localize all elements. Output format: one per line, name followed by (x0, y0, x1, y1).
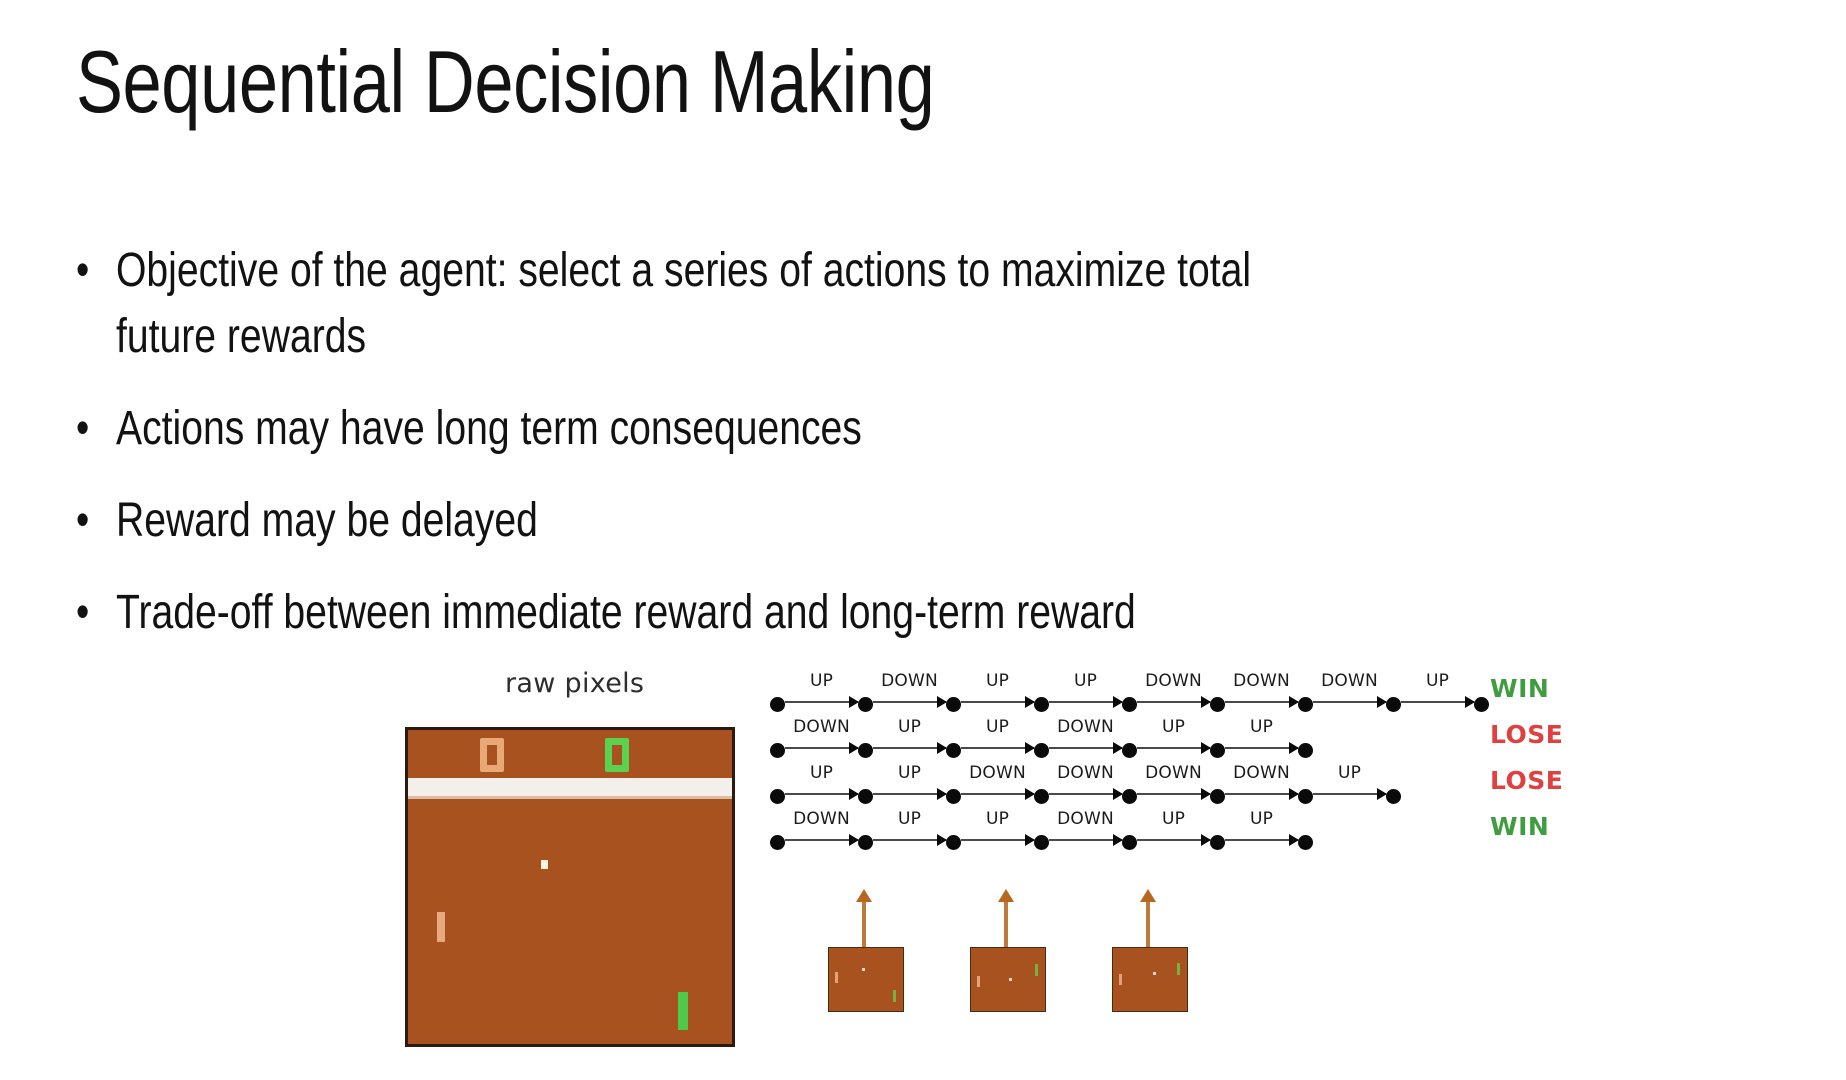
list-item: • Reward may be delayed (76, 488, 1836, 554)
bullet-text: Reward may be delayed (116, 488, 1518, 554)
ball (1153, 972, 1156, 975)
up-arrow-icon (1146, 900, 1150, 948)
bullet-text: Trade-off between immediate reward and l… (116, 580, 1518, 646)
bullet-marker: • (76, 238, 109, 300)
bullet-marker: • (76, 580, 109, 642)
left-paddle (977, 976, 980, 987)
pong-thumbnail-frame (1112, 947, 1188, 1012)
ball (1009, 978, 1012, 981)
up-arrow-icon (862, 900, 866, 948)
up-arrow-icon (1004, 900, 1008, 948)
right-paddle (893, 990, 896, 1002)
pong-thumbnail-frame (970, 947, 1046, 1012)
list-item: • Trade-off between immediate reward and… (76, 580, 1836, 646)
list-item: • Objective of the agent: select a serie… (76, 238, 1836, 370)
bullet-marker: • (76, 396, 109, 458)
bullet-text: Objective of the agent: select a series … (116, 238, 1518, 370)
left-paddle (1119, 974, 1122, 985)
ball (862, 968, 865, 971)
bullet-list: • Objective of the agent: select a serie… (76, 238, 1836, 672)
right-paddle (1035, 964, 1038, 976)
figure-region: raw pixels UPDOWNUPUPDOWNDOWNDOWNUPDOWNU… (0, 660, 1846, 1080)
right-paddle (1177, 963, 1180, 975)
thumbnail-row (0, 660, 1846, 1080)
left-paddle (835, 972, 838, 983)
page-title: Sequential Decision Making (76, 36, 934, 128)
bullet-text: Actions may have long term consequences (116, 396, 1518, 462)
pong-thumbnail-frame (828, 947, 904, 1012)
bullet-marker: • (76, 488, 109, 550)
list-item: • Actions may have long term consequence… (76, 396, 1836, 462)
